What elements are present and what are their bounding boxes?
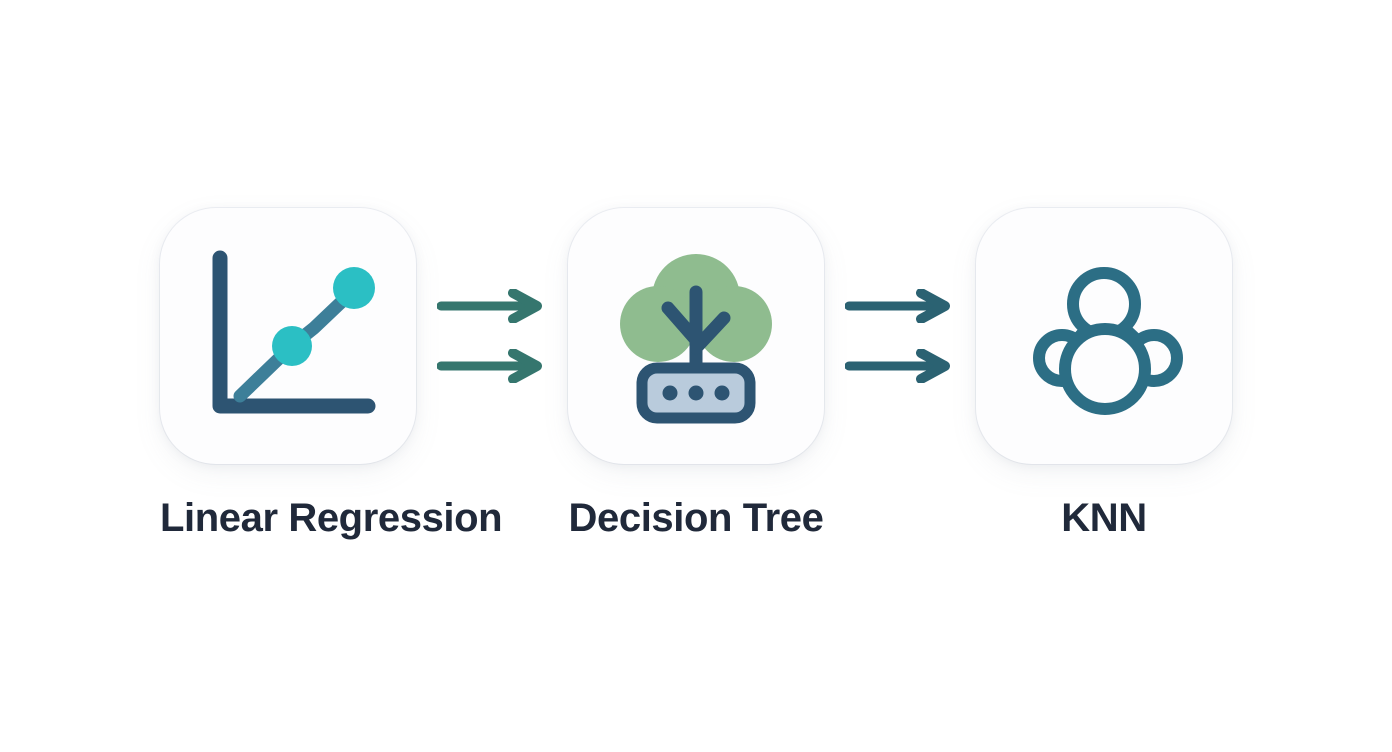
diagram-canvas: Linear Regression Decision Tree KNN	[0, 0, 1392, 752]
tree-icon	[596, 236, 796, 436]
connector-2-double-arrow	[824, 276, 976, 396]
arrow-right-icon	[845, 289, 955, 323]
card-decision-tree[interactable]	[568, 208, 824, 464]
arrow-right-icon	[437, 289, 547, 323]
node-label-knn: KNN	[1061, 496, 1146, 540]
tree-pot	[642, 368, 750, 418]
node-linear-regression[interactable]	[160, 208, 416, 464]
arrow-right-icon	[845, 349, 955, 383]
node-circle-center	[1065, 329, 1145, 409]
node-label-decision-tree: Decision Tree	[569, 496, 824, 540]
label-slot-decision-tree: Decision Tree	[568, 494, 824, 542]
node-decision-tree[interactable]	[568, 208, 824, 464]
card-linear-regression[interactable]	[160, 208, 416, 464]
label-slot-knn: KNN	[976, 494, 1232, 542]
label-row: Linear Regression Decision Tree KNN	[0, 487, 1392, 549]
node-knn[interactable]	[976, 208, 1232, 464]
arrow-right-icon	[437, 349, 547, 383]
flow-row	[0, 208, 1392, 464]
card-knn[interactable]	[976, 208, 1232, 464]
connector-1-double-arrow	[416, 276, 568, 396]
node-label-linear-regression: Linear Regression	[160, 496, 502, 540]
line-chart-icon	[188, 236, 388, 436]
network-nodes-icon	[1004, 236, 1204, 436]
label-slot-linear-regression: Linear Regression	[160, 494, 416, 542]
